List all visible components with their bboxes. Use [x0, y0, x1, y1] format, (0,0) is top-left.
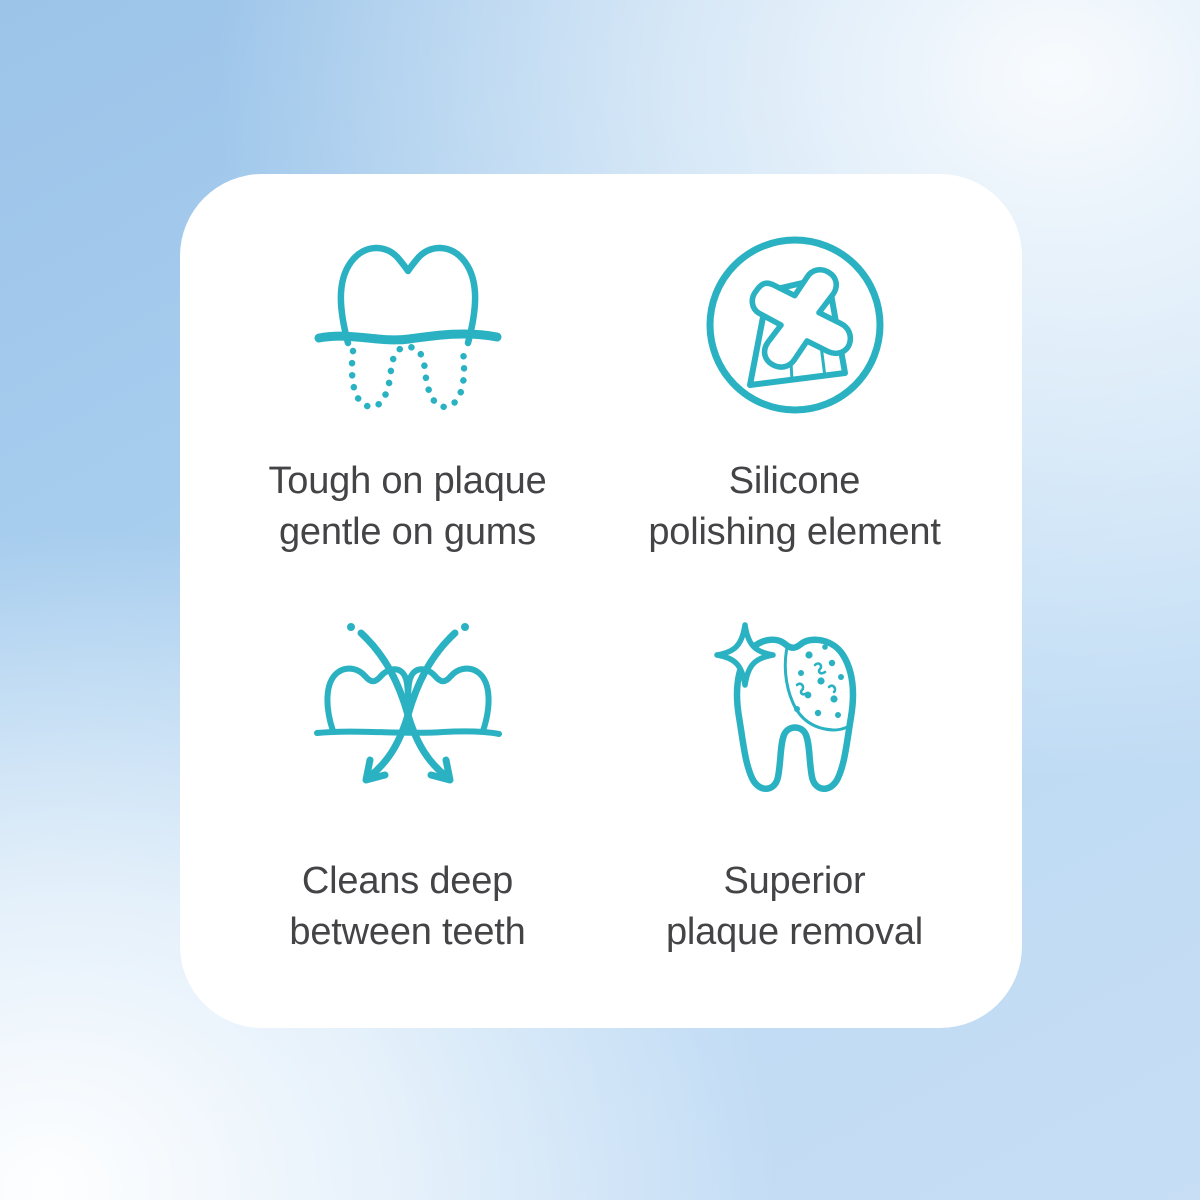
feature-label: Superior plaque removal [666, 856, 923, 957]
tooth-plaque-sparkle-icon [705, 604, 885, 808]
feature-item-cleans-deep: Cleans deep between teeth [214, 604, 601, 988]
feature-item-superior-plaque-removal: Superior plaque removal [601, 604, 988, 988]
feature-card: Tough on plaque gentle on gums Silicone … [180, 174, 1022, 1028]
tooth-with-gumline-icon [303, 220, 513, 430]
arrows-between-teeth-icon [303, 604, 513, 808]
feature-label: Tough on plaque gentle on gums [268, 456, 546, 557]
silicone-polishing-element-icon [695, 220, 895, 430]
feature-item-tough-on-plaque: Tough on plaque gentle on gums [214, 220, 601, 604]
feature-label: Silicone polishing element [648, 456, 940, 557]
feature-label: Cleans deep between teeth [289, 856, 525, 957]
feature-item-silicone-polishing: Silicone polishing element [601, 220, 988, 604]
